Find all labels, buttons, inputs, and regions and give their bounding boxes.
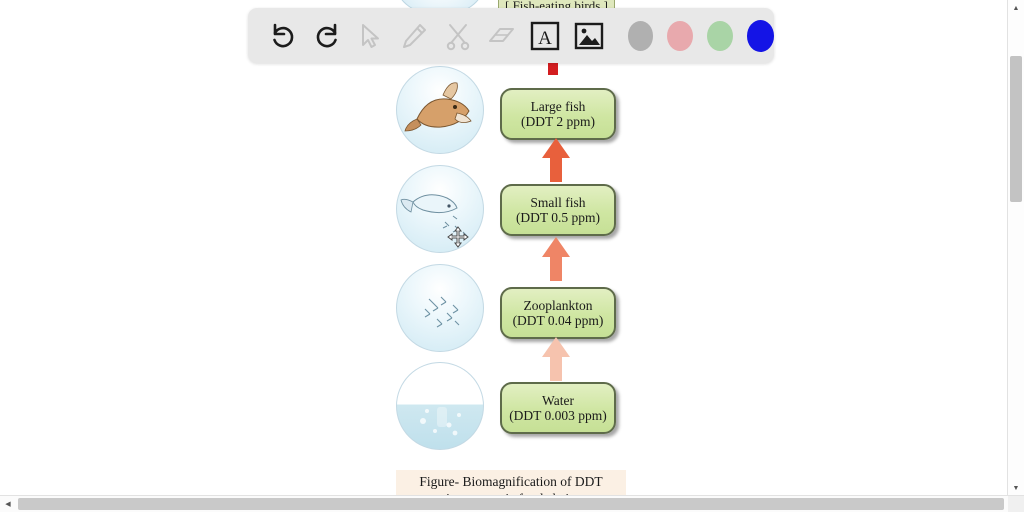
scissors-glyph (443, 21, 473, 51)
zooplankton-art (397, 265, 483, 351)
chain-box-large-fish[interactable]: Large fish (DDT 2 ppm) (500, 88, 616, 140)
image-icon[interactable] (570, 14, 608, 58)
pencil-glyph (399, 21, 429, 51)
chain-box-zooplankton[interactable]: Zooplankton (DDT 0.04 ppm) (500, 287, 616, 339)
cursor-icon[interactable] (351, 14, 389, 58)
chain-box-small-fish[interactable]: Small fish (DDT 0.5 ppm) (500, 184, 616, 236)
small-fish-art (397, 166, 483, 252)
color-swatch-blue[interactable] (747, 20, 774, 52)
scroll-down-button[interactable]: ▼ (1008, 480, 1024, 496)
text-icon[interactable]: A (526, 14, 564, 58)
editor-toolbar[interactable]: A (248, 8, 774, 63)
chain-box-value: (DDT 0.003 ppm) (509, 408, 607, 423)
chain-box-title: Water (542, 393, 574, 408)
water-illustration[interactable] (396, 362, 484, 450)
arrow-small-to-large (541, 138, 571, 182)
horizontal-scrollbar[interactable]: ◀ ▶ (0, 495, 1024, 512)
text-glyph: A (529, 20, 561, 52)
arrow-zooplankton-to-small (541, 237, 571, 281)
chain-box-title: Zooplankton (524, 298, 593, 313)
redo-glyph (312, 21, 342, 51)
move-cursor (447, 226, 469, 248)
chain-box-title: Small fish (530, 195, 585, 210)
scissors-icon[interactable] (439, 14, 477, 58)
up-arrow-icon (541, 138, 571, 182)
small-fish-illustration[interactable] (396, 165, 484, 253)
horizontal-scrollbar-thumb[interactable] (18, 498, 1004, 510)
up-arrow-icon (541, 337, 571, 381)
undo-icon[interactable] (264, 14, 302, 58)
chain-box-value: (DDT 0.04 ppm) (513, 313, 604, 328)
zooplankton-illustration[interactable] (396, 264, 484, 352)
water-art (397, 363, 483, 449)
image-glyph (573, 20, 605, 52)
chain-box-value: (DDT 2 ppm) (521, 114, 595, 129)
vertical-scrollbar[interactable]: ▲ ▼ (1007, 0, 1024, 496)
up-arrow-icon (541, 237, 571, 281)
document-canvas[interactable]: [ Fish-eating birds ] Large fish (DDT 2 … (0, 0, 1008, 496)
color-swatch-gray[interactable] (628, 21, 654, 51)
scrollbar-corner (1008, 496, 1024, 512)
figure-caption: Figure- Biomagnification of DDT in an aq… (396, 470, 626, 496)
scroll-left-button[interactable]: ◀ (0, 496, 16, 512)
vertical-scrollbar-thumb[interactable] (1010, 56, 1022, 202)
color-swatch-pink[interactable] (667, 21, 693, 51)
large-fish-illustration[interactable] (396, 66, 484, 154)
pencil-icon[interactable] (395, 14, 433, 58)
undo-glyph (268, 21, 298, 51)
chain-box-value: (DDT 0.5 ppm) (516, 210, 600, 225)
redo-icon[interactable] (308, 14, 346, 58)
svg-text:A: A (538, 28, 552, 49)
cursor-glyph (355, 21, 385, 51)
arrow-water-to-zooplankton (541, 337, 571, 381)
eraser-glyph (486, 21, 516, 51)
move-cursor-icon (447, 226, 469, 248)
food-chain-diagram: Large fish (DDT 2 ppm) Sma (0, 0, 1008, 496)
chain-box-water[interactable]: Water (DDT 0.003 ppm) (500, 382, 616, 434)
color-swatch-green[interactable] (707, 21, 733, 51)
eraser-icon[interactable] (482, 14, 520, 58)
caption-line-1: Figure- Biomagnification of DDT (419, 474, 602, 489)
chain-box-title: Large fish (531, 99, 586, 114)
scroll-up-button[interactable]: ▲ (1008, 0, 1024, 16)
large-fish-art (397, 67, 483, 153)
